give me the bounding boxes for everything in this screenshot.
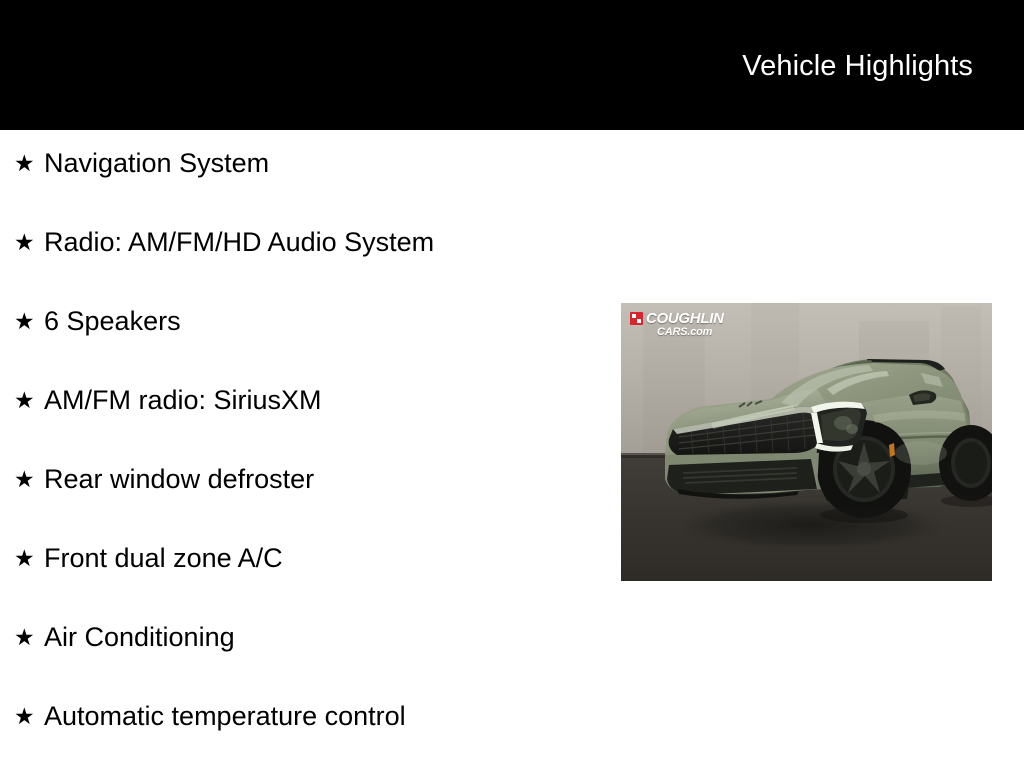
- list-item: ★ Air Conditioning: [0, 620, 620, 699]
- list-item: ★ Rear window defroster: [0, 462, 620, 541]
- list-item: ★ Front dual zone A/C: [0, 541, 620, 620]
- list-item: ★ Automatic temperature control: [0, 699, 620, 768]
- list-item-label: Front dual zone A/C: [44, 541, 283, 575]
- list-item: ★ AM/FM radio: SiriusXM: [0, 383, 620, 462]
- list-item: ★ Navigation System: [0, 146, 620, 225]
- list-item: ★ Radio: AM/FM/HD Audio System: [0, 225, 620, 304]
- vehicle-photo: COUGHLIN CARS.com: [621, 303, 992, 581]
- list-item-label: Radio: AM/FM/HD Audio System: [44, 225, 434, 259]
- list-item-label: Air Conditioning: [44, 620, 235, 654]
- list-item-label: Rear window defroster: [44, 462, 314, 496]
- star-icon: ★: [14, 541, 44, 575]
- star-icon: ★: [14, 304, 44, 338]
- vehicle-highlights-page: Vehicle Highlights ★ Navigation System ★…: [0, 0, 1024, 768]
- star-icon: ★: [14, 146, 44, 180]
- list-item-label: Navigation System: [44, 146, 269, 180]
- header-bar: Vehicle Highlights: [0, 0, 1024, 130]
- star-icon: ★: [14, 620, 44, 654]
- list-item-label: Automatic temperature control: [44, 699, 406, 733]
- star-icon: ★: [14, 462, 44, 496]
- star-icon: ★: [14, 383, 44, 417]
- list-item-label: AM/FM radio: SiriusXM: [44, 383, 322, 417]
- star-icon: ★: [14, 225, 44, 259]
- star-icon: ★: [14, 699, 44, 733]
- list-item: ★ 6 Speakers: [0, 304, 620, 383]
- list-item-label: 6 Speakers: [44, 304, 181, 338]
- vehicle-highlights-list: ★ Navigation System ★ Radio: AM/FM/HD Au…: [0, 146, 620, 768]
- page-title: Vehicle Highlights: [742, 49, 973, 83]
- vehicle-photo-image: [621, 303, 992, 581]
